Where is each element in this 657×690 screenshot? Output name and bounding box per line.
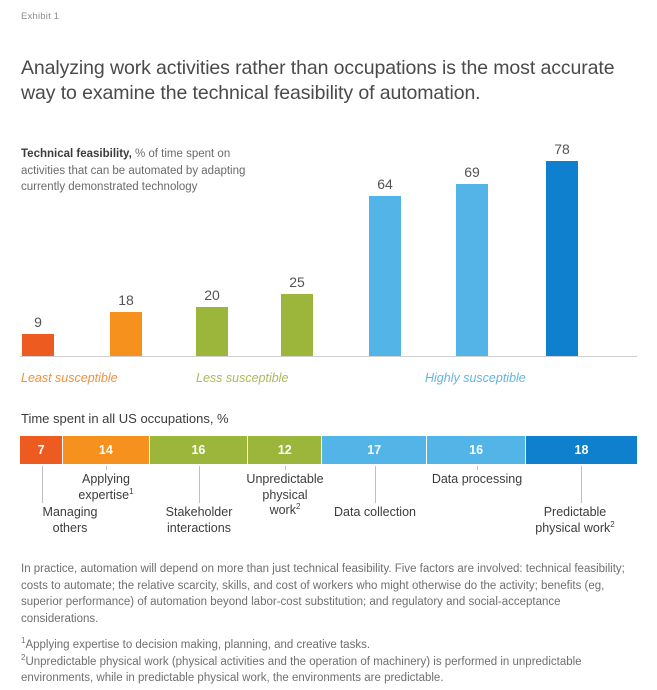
bar-column: [456, 184, 488, 357]
segment-tick-5: [375, 466, 376, 503]
bar-value-label: 78: [536, 141, 588, 157]
bar-column: [110, 312, 142, 357]
bar-7: 78: [546, 141, 578, 357]
segment-label-5: Data collection: [300, 505, 450, 521]
segment-label-6: Data processing: [402, 472, 552, 488]
bar-column: [546, 161, 578, 357]
segment-label-2: Applyingexpertise1: [31, 472, 181, 503]
stacked-chart-title: Time spent in all US occupations, %: [21, 411, 229, 426]
footnote-2: 2Unpredictable physical work (physical a…: [21, 654, 641, 687]
stacked-segment-7[interactable]: 18: [526, 436, 637, 464]
segment-tick-2: [106, 466, 107, 470]
x-axis-line: [20, 356, 637, 357]
bar-2: 18: [110, 141, 142, 357]
segment-tick-6: [477, 466, 478, 470]
segment-tick-7: [581, 466, 582, 503]
bar-1: 9: [22, 141, 54, 357]
bar-plot-area: 9182025646978: [0, 140, 657, 357]
bar-6: 69: [456, 141, 488, 357]
bar-value-label: 20: [186, 287, 238, 303]
susceptibility-label-2: Less susceptible: [196, 371, 288, 385]
segment-label-7: Predictablephysical work2: [505, 505, 645, 536]
footnote-1: 1Applying expertise to decision making, …: [21, 637, 641, 654]
footnote-2-text: Unpredictable physical work (physical ac…: [21, 656, 582, 685]
time-spent-stacked-bar: 7141612171618: [20, 436, 637, 464]
stacked-segment-6[interactable]: 16: [427, 436, 526, 464]
technical-feasibility-chart: Technical feasibility, % of time spent o…: [0, 140, 657, 392]
bar-value-label: 9: [12, 314, 64, 330]
bar-column: [196, 307, 228, 357]
exhibit-label: Exhibit 1: [21, 11, 59, 22]
body-paragraph: In practice, automation will depend on m…: [21, 561, 633, 627]
stacked-segment-2[interactable]: 14: [63, 436, 149, 464]
page-title: Analyzing work activities rather than oc…: [21, 56, 641, 106]
susceptibility-label-3: Highly susceptible: [425, 371, 526, 385]
bar-value-label: 64: [359, 176, 411, 192]
footnotes: 1Applying expertise to decision making, …: [21, 637, 641, 687]
bar-column: [369, 196, 401, 357]
bar-value-label: 25: [271, 274, 323, 290]
bar-4: 25: [281, 141, 313, 357]
footnote-1-text: Applying expertise to decision making, p…: [25, 639, 370, 651]
stacked-segment-4[interactable]: 12: [248, 436, 322, 464]
segment-tick-3: [199, 466, 200, 503]
segment-label-1: Managingothers: [10, 505, 130, 536]
bar-column: [281, 294, 313, 357]
segment-tick-4: [285, 466, 286, 470]
stacked-segment-1[interactable]: 7: [20, 436, 63, 464]
susceptibility-label-1: Least susceptible: [21, 371, 118, 385]
stacked-segment-5[interactable]: 17: [322, 436, 427, 464]
bar-value-label: 18: [100, 292, 152, 308]
bar-value-label: 69: [446, 164, 498, 180]
bar-column: [22, 334, 54, 357]
stacked-segment-3[interactable]: 16: [150, 436, 249, 464]
bar-5: 64: [369, 141, 401, 357]
bar-3: 20: [196, 141, 228, 357]
